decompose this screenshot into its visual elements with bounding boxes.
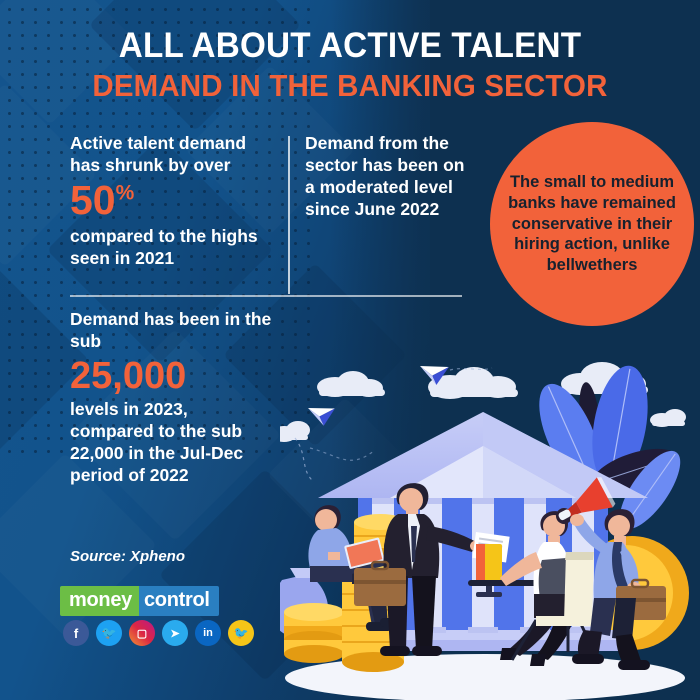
twitter-icon[interactable]: 🐦 (96, 620, 122, 646)
stat-a-lead: Active talent demand has shrunk by over (70, 132, 270, 176)
callout-text: The small to medium banks have remained … (490, 172, 694, 277)
logo-control-text: control (139, 586, 219, 616)
moneycontrol-logo[interactable]: money control (60, 586, 219, 616)
koo-icon[interactable]: 🐦 (228, 620, 254, 646)
stat-block-demand-shrunk: Active talent demand has shrunk by over … (70, 132, 270, 269)
stat-c-lead: Demand has been in the sub (70, 308, 275, 352)
horizontal-divider (70, 295, 462, 297)
title-line-1: ALL ABOUT ACTIVE TALENT (18, 28, 683, 65)
facebook-icon[interactable]: f (63, 620, 89, 646)
stat-block-moderated-level: Demand from the sector has been on a mod… (305, 132, 475, 220)
instagram-icon[interactable]: ▢ (129, 620, 155, 646)
social-icon-bar: f 🐦 ▢ ➤ in 🐦 (63, 620, 254, 646)
title-line-2: DEMAND IN THE BANKING SECTOR (18, 69, 683, 103)
page-title: ALL ABOUT ACTIVE TALENT DEMAND IN THE BA… (0, 28, 700, 103)
bank-illustration (280, 330, 700, 700)
stat-a-percent-sign: % (116, 181, 135, 204)
telegram-icon[interactable]: ➤ (162, 620, 188, 646)
source-label: Source: Xpheno (70, 548, 185, 565)
infographic-canvas: ALL ABOUT ACTIVE TALENT DEMAND IN THE BA… (0, 0, 700, 700)
stat-c-value: 25,000 (70, 357, 275, 395)
linkedin-icon[interactable]: in (195, 620, 221, 646)
stat-c-trail: levels in 2023, compared to the sub 22,0… (70, 398, 275, 486)
stat-a-trail: compared to the highs seen in 2021 (70, 225, 270, 269)
stat-a-value: 50% (70, 180, 270, 221)
vertical-divider (288, 136, 290, 294)
logo-money-text: money (60, 586, 139, 616)
callout-circle: The small to medium banks have remained … (490, 122, 694, 326)
stat-block-sub-25000: Demand has been in the sub 25,000 levels… (70, 308, 275, 486)
stat-b-text: Demand from the sector has been on a mod… (305, 132, 475, 220)
stat-a-number: 50 (70, 177, 116, 223)
